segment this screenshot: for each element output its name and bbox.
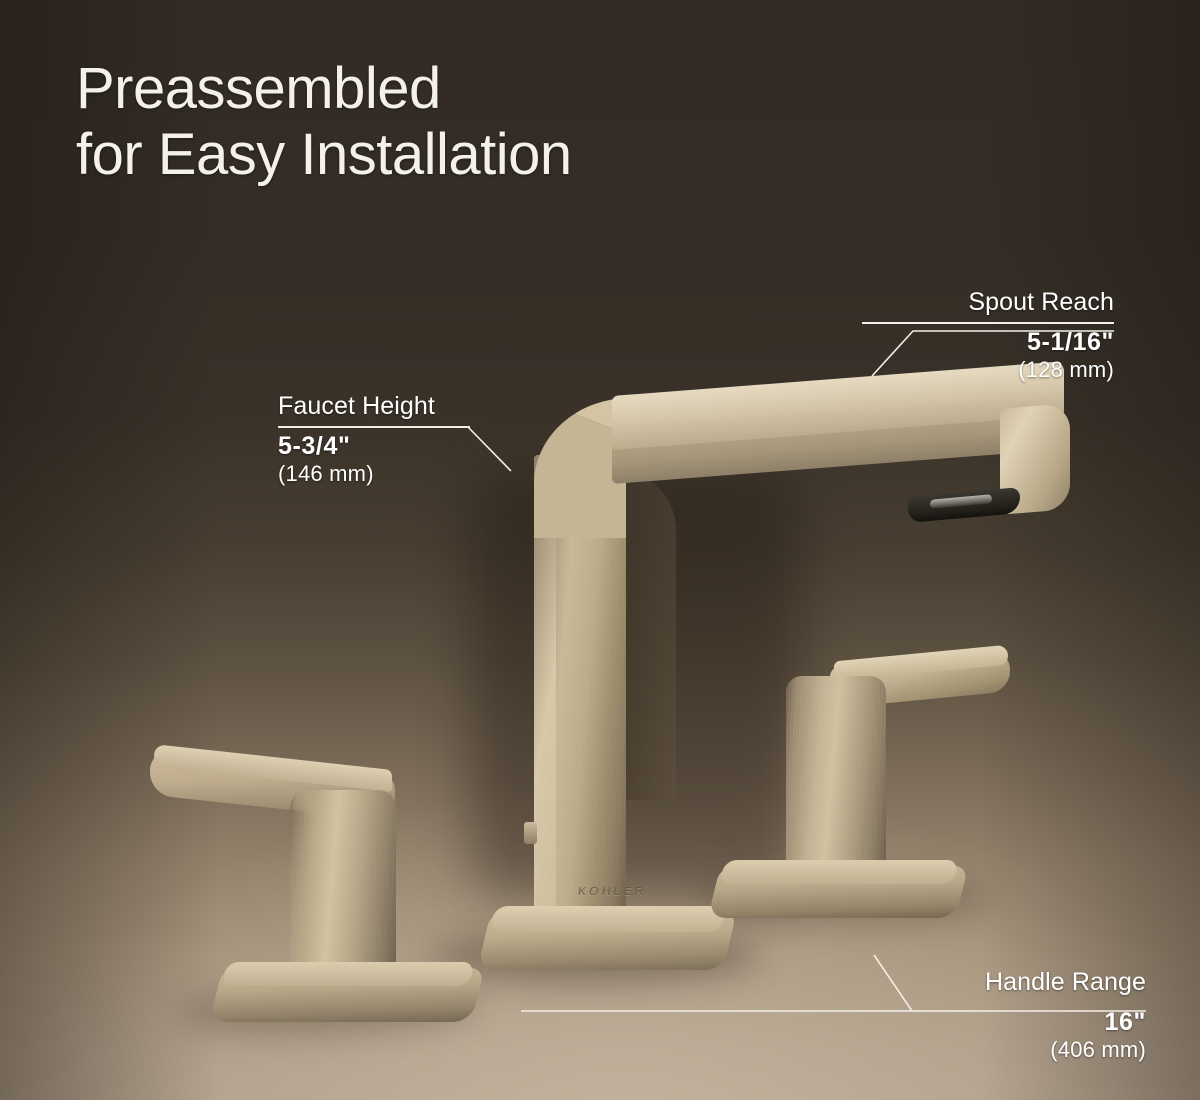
callout-spout-reach: Spout Reach 5-1/16" (128 mm) [862, 288, 1114, 383]
product-hero-image: KOHLER Preassembled for Easy Installatio… [0, 0, 1200, 1100]
callout-faucet-height-metric: (146 mm) [278, 461, 470, 487]
callout-faucet-height-imperial: 5-3/4" [278, 432, 470, 461]
right-handle-escutcheon-top [719, 860, 959, 884]
callout-handle-range: Handle Range 16" (406 mm) [888, 968, 1146, 1063]
page-title: Preassembled for Easy Installation [76, 56, 572, 187]
right-handle-stem [786, 676, 886, 888]
callout-spout-reach-imperial: 5-1/16" [862, 328, 1114, 357]
callout-spout-reach-metric: (128 mm) [862, 357, 1114, 383]
callout-spout-reach-title: Spout Reach [862, 288, 1114, 317]
callout-handle-range-title: Handle Range [888, 968, 1146, 997]
callout-handle-range-imperial: 16" [888, 1008, 1146, 1037]
callout-faucet-height-rule [278, 426, 470, 428]
callout-handle-range-metric: (406 mm) [888, 1037, 1146, 1063]
callout-faucet-height: Faucet Height 5-3/4" (146 mm) [278, 392, 470, 487]
left-handle-stem [290, 790, 396, 990]
spout-escutcheon-top-face [489, 906, 727, 932]
callout-faucet-height-title: Faucet Height [278, 392, 470, 421]
callout-spout-reach-rule [862, 322, 1114, 324]
kohler-brand-etching: KOHLER [577, 884, 648, 897]
left-handle-escutcheon-top [221, 962, 475, 986]
spout-side-button [524, 822, 537, 844]
